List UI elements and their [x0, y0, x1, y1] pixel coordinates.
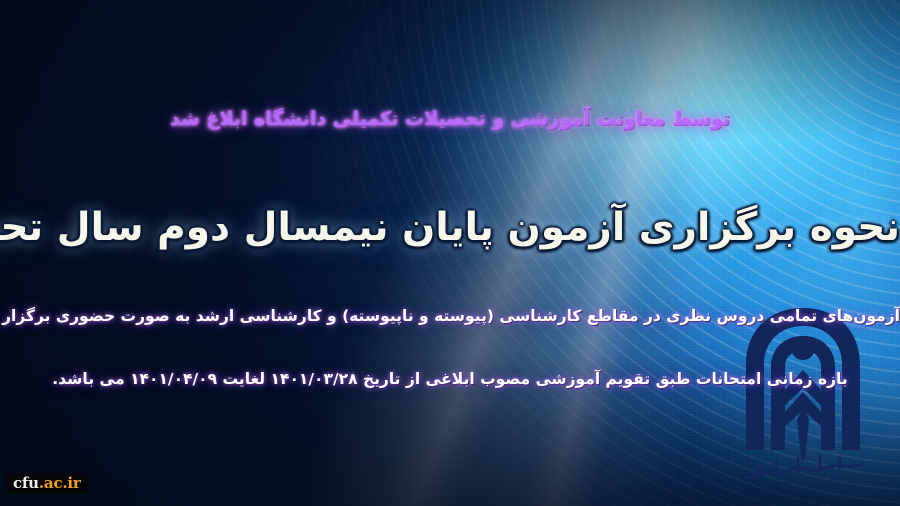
announcement-banner: توسط معاونت آموزشی و تحصیلات تکمیلی دانش…: [0, 0, 900, 506]
page-title: نحوه برگزاری آزمون پایان نیمسال دوم سال …: [0, 205, 900, 250]
body-line-1: آزمون‌های تمامی دروس نظری در مقاطع کارشن…: [0, 307, 900, 325]
kicker-text: توسط معاونت آموزشی و تحصیلات تکمیلی دانش…: [0, 108, 900, 130]
watermark-suffix: .ac.ir: [39, 474, 81, 492]
body-line-2: بازه زمانی امتحانات طبق تقویم آموزشی مصو…: [0, 370, 900, 388]
banner-text-block: توسط معاونت آموزشی و تحصیلات تکمیلی دانش…: [0, 0, 900, 506]
site-watermark: cfu.ac.ir: [6, 473, 88, 495]
watermark-prefix: cfu: [13, 474, 39, 492]
